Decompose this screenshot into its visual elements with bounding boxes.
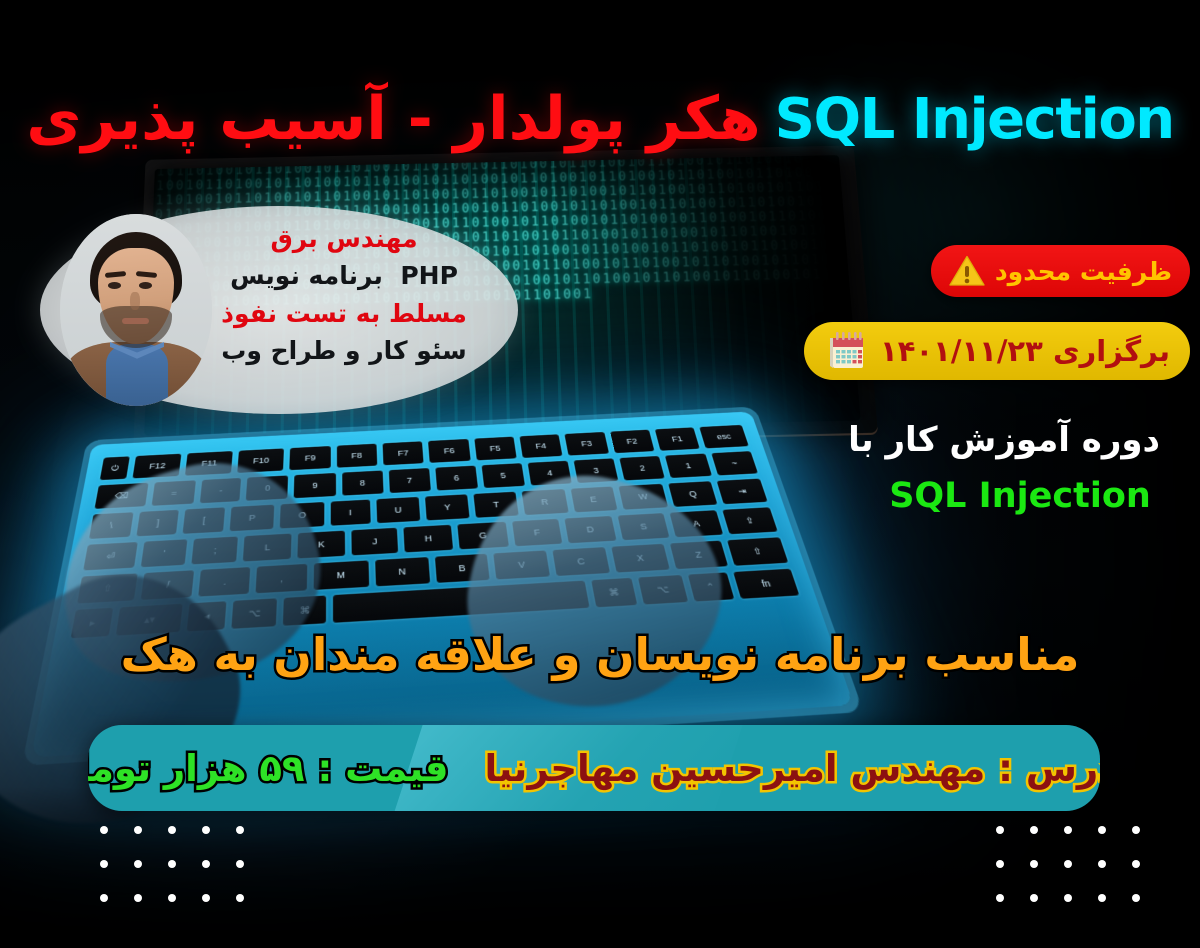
dot-grid-left xyxy=(100,826,244,902)
decorative-dot xyxy=(168,860,176,868)
credential-line-4: سئو کار و طراح وب xyxy=(194,332,494,369)
capacity-badge[interactable]: ظرفیت محدود xyxy=(931,245,1190,297)
avatar-eye-right xyxy=(139,282,152,289)
decorative-dot xyxy=(202,826,210,834)
decorative-dot xyxy=(1030,894,1038,902)
poster-root: 1011010010110100101101001011010010110100… xyxy=(0,0,1200,948)
credential-line-2-text: برنامه نویس xyxy=(230,261,383,290)
decorative-dot xyxy=(236,894,244,902)
decorative-dot xyxy=(1064,894,1072,902)
decorative-dot xyxy=(100,826,108,834)
decorative-dot xyxy=(100,860,108,868)
decorative-dot xyxy=(1132,894,1140,902)
decorative-dot xyxy=(1030,826,1038,834)
decorative-dot xyxy=(134,894,142,902)
decorative-dot xyxy=(996,826,1004,834)
decorative-dot xyxy=(134,826,142,834)
avatar xyxy=(60,214,212,406)
avatar-eye-left xyxy=(108,282,121,289)
poster-title: SQL Injectionهکر پولدار - آسیب پذیری xyxy=(0,84,1200,154)
decorative-dot xyxy=(236,826,244,834)
decorative-dot xyxy=(1030,860,1038,868)
decorative-dot xyxy=(100,894,108,902)
price-label: قیمت : ۵۹ هزار تومان xyxy=(88,747,448,790)
course-line-english: SQL Injection xyxy=(880,476,1160,516)
audience-headline-text: مناسب برنامه نویسان و علاقه مندان به هک xyxy=(121,628,1080,681)
title-persian: هکر پولدار - آسیب پذیری xyxy=(26,84,760,154)
audience-headline: مناسب برنامه نویسان و علاقه مندان به هک xyxy=(0,628,1200,681)
decorative-dot xyxy=(134,860,142,868)
avatar-nose xyxy=(130,292,140,310)
decorative-dot xyxy=(1098,860,1106,868)
credential-line-1: مهندس برق xyxy=(194,220,494,257)
decorative-dot xyxy=(1098,894,1106,902)
decorative-dot xyxy=(168,894,176,902)
course-block: دوره آموزش کار با SQL Injection xyxy=(880,420,1160,516)
instructor-label: مدرس : مهندس امیرحسین مهاجرنیا xyxy=(484,747,1100,790)
decorative-dot xyxy=(996,860,1004,868)
decorative-dot xyxy=(202,860,210,868)
capacity-badge-label: ظرفیت محدود xyxy=(995,257,1172,286)
credential-line-2: PHP برنامه نویس xyxy=(194,257,494,294)
date-badge-label: برگزاری ۱۴۰۱/۱۱/۲۳ xyxy=(880,334,1170,368)
decorative-dot xyxy=(202,894,210,902)
credential-php: PHP xyxy=(400,257,458,294)
decorative-dot xyxy=(1098,826,1106,834)
title-english: SQL Injection xyxy=(775,87,1174,152)
decorative-dot xyxy=(236,860,244,868)
decorative-dot xyxy=(1132,860,1140,868)
dot-grid-right xyxy=(996,826,1140,902)
decorative-dot xyxy=(1064,826,1072,834)
presenter-card: مهندس برق PHP برنامه نویس مسلط به تست نف… xyxy=(40,206,518,414)
calendar-icon xyxy=(824,330,868,372)
credential-line-3: مسلط به تست نفوذ xyxy=(194,295,494,332)
decorative-dot xyxy=(1132,826,1140,834)
course-line-persian: دوره آموزش کار با xyxy=(880,420,1160,460)
bottom-info-bar: مدرس : مهندس امیرحسین مهاجرنیا قیمت : ۵۹… xyxy=(88,725,1100,811)
date-badge[interactable]: برگزاری ۱۴۰۱/۱۱/۲۳ xyxy=(804,322,1190,380)
decorative-dot xyxy=(168,826,176,834)
warning-triangle-icon xyxy=(949,255,985,287)
avatar-mouth xyxy=(122,318,149,324)
decorative-dot xyxy=(1064,860,1072,868)
decorative-dot xyxy=(996,894,1004,902)
presenter-credentials: مهندس برق PHP برنامه نویس مسلط به تست نف… xyxy=(194,220,494,369)
